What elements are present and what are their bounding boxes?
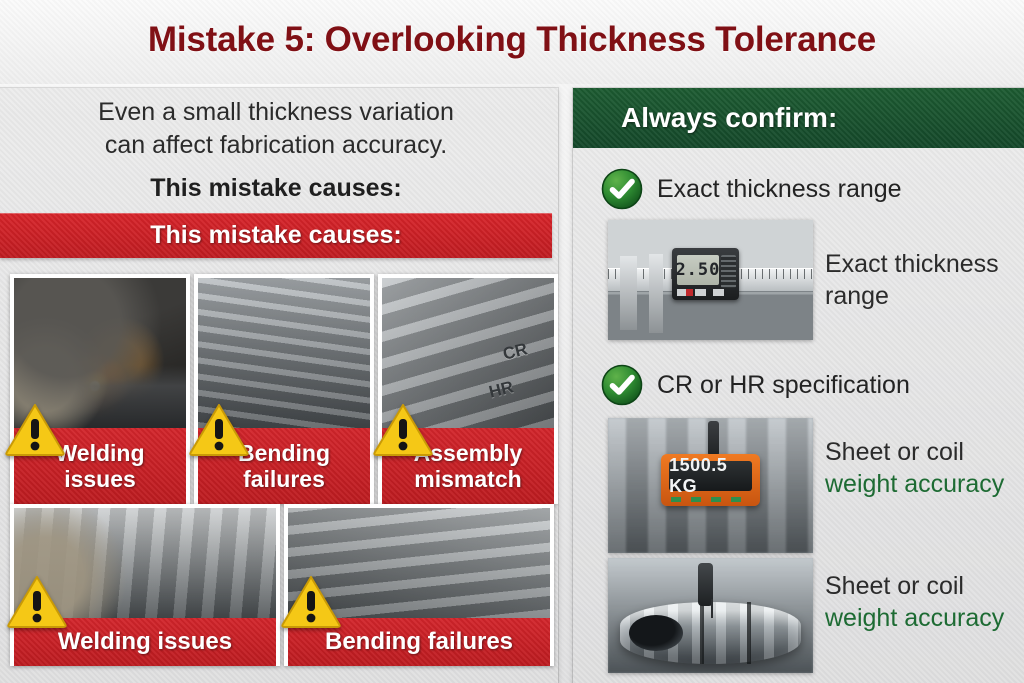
warning-triangle-icon <box>188 402 250 458</box>
card-caption-line-2: issues <box>55 466 144 492</box>
page-title: Mistake 5: Overlooking Thickness Toleran… <box>0 20 1024 60</box>
card-caption-line-2: failures <box>238 466 330 492</box>
crane-scale-reading: 1500.5 KG <box>669 455 752 497</box>
intro-line-2: can affect fabrication accuracy. <box>0 129 558 162</box>
left-panel: Even a small thickness variation can aff… <box>0 88 558 683</box>
cause-card-bending-failures[interactable]: Bending failures <box>194 274 374 504</box>
card-caption-line-1: Welding <box>55 440 144 466</box>
item-text-weight-accuracy-2: Sheet or coil weight accuracy <box>825 570 1024 634</box>
steel-coil-on-hook-photo <box>608 558 813 673</box>
intro-text: Even a small thickness variation can aff… <box>0 96 558 161</box>
right-panel-header-label: Always confirm: <box>621 102 837 134</box>
card-caption-line-1: Bending <box>238 440 330 466</box>
infographic-slide: Mistake 5: Overlooking Thickness Toleran… <box>0 0 1024 683</box>
warning-triangle-icon <box>280 574 342 630</box>
caliper-reading: 2.50 <box>675 260 720 280</box>
intro-line-1: Even a small thickness variation <box>98 98 454 126</box>
checklist-item-exact-thickness[interactable]: Exact thickness range <box>601 168 902 210</box>
item-text-line-2: range <box>825 280 1024 312</box>
item-text-line-1: Sheet or coil <box>825 436 1024 468</box>
cause-card-welding-issues[interactable]: Welding issues <box>10 274 190 504</box>
green-check-icon <box>601 364 643 406</box>
checklist-item-cr-hr-spec[interactable]: CR or HR specification <box>601 364 910 406</box>
green-check-icon <box>601 168 643 210</box>
cause-card-welding-issues-secondary[interactable]: Welding issues <box>10 504 280 666</box>
item-text-line-1: Sheet or coil <box>825 570 1024 602</box>
checklist-label: Exact thickness range <box>657 175 902 204</box>
item-text-line-2: weight accuracy <box>825 468 1024 500</box>
checklist-label: CR or HR specification <box>657 371 910 400</box>
item-text-line-1: Exact thickness <box>825 248 1024 280</box>
title-bar: Mistake 5: Overlooking Thickness Toleran… <box>0 0 1024 84</box>
item-text-line-2: weight accuracy <box>825 602 1024 634</box>
item-text-exact-thickness: Exact thickness range <box>825 248 1024 312</box>
item-text-weight-accuracy-1: Sheet or coil weight accuracy <box>825 436 1024 500</box>
orange-crane-scale-photo: 1500.5 KG <box>608 418 813 553</box>
card-caption-line-2: mismatch <box>414 466 523 492</box>
warning-triangle-icon <box>4 402 66 458</box>
digital-caliper-photo: 2.50 <box>608 220 813 340</box>
right-panel-header: Always confirm: <box>573 88 1024 148</box>
cause-card-bending-failures-secondary[interactable]: Bending failures <box>284 504 554 666</box>
cause-card-assembly-mismatch[interactable]: CR HR Assembly mismatch <box>378 274 558 504</box>
intro-subhead: This mistake causes: <box>0 174 558 203</box>
warning-triangle-icon <box>6 574 68 630</box>
right-panel: Always confirm: Exact thickness range <box>573 88 1024 683</box>
red-band-label: This mistake causes: <box>150 221 402 250</box>
warning-triangle-icon <box>372 402 434 458</box>
red-band-causes: This mistake causes: <box>0 213 552 258</box>
